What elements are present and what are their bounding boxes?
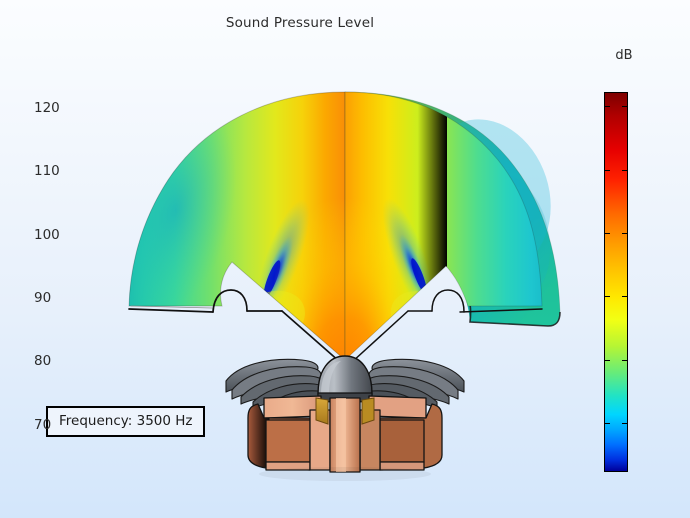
colorbar-tick-label: 100	[34, 227, 60, 243]
frequency-annotation: Frequency: 3500 Hz	[46, 406, 205, 437]
driver-dome	[318, 356, 372, 402]
colorbar-unit-label: dB	[604, 48, 644, 63]
plot-canvas: Sound Pressure Level	[0, 0, 690, 518]
colorbar-tick-label: 110	[34, 163, 60, 179]
acoustic-field-3d-view	[0, 0, 690, 518]
colorbar-tick-label: 80	[34, 353, 51, 369]
spl-colorbar[interactable]	[604, 92, 628, 472]
colorbar-tick-label: 70	[34, 417, 51, 433]
colorbar-tick-label: 90	[34, 290, 51, 306]
colorbar-tick-label: 120	[34, 100, 60, 116]
driver-shadow	[259, 467, 431, 481]
magnet-assembly	[248, 396, 442, 472]
loudspeaker-driver-assembly	[226, 356, 464, 481]
colorbar-gradient	[604, 92, 628, 472]
